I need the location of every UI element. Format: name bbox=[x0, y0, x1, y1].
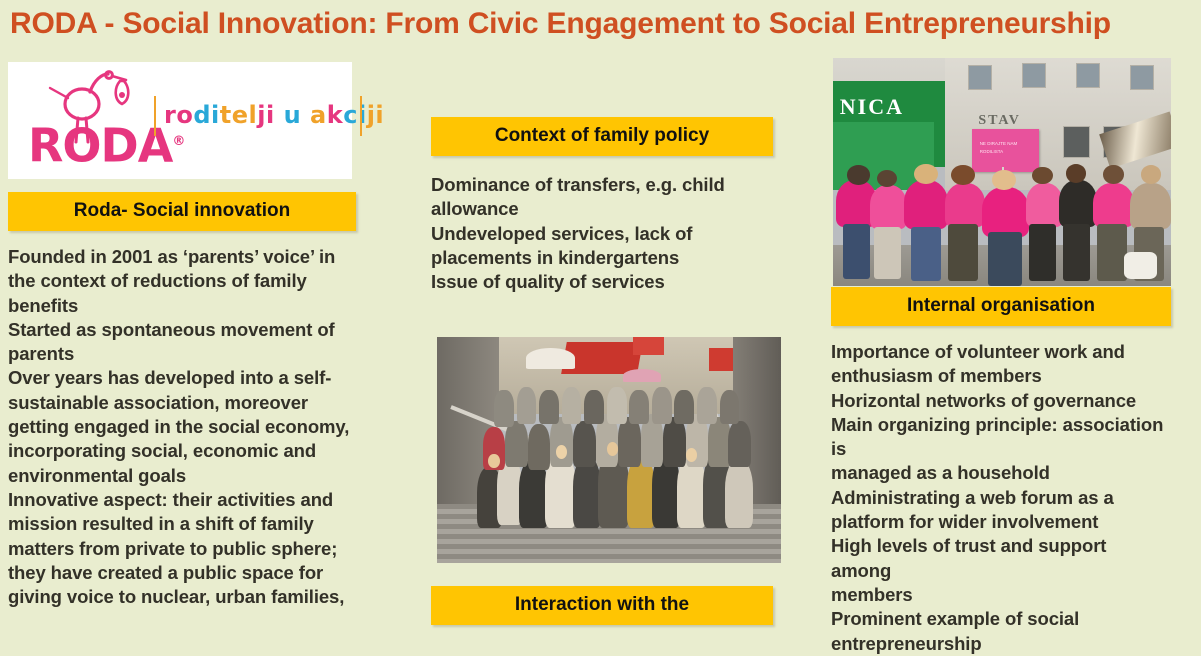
tagline-letter: a bbox=[310, 101, 327, 129]
body-line: parents bbox=[8, 342, 356, 366]
tagline-letter: i bbox=[375, 101, 384, 129]
photo-street-rally: NICA STAV NE DIRAJTE NAM RODILISTA bbox=[833, 58, 1171, 286]
column-middle: Context of family policy Dominance of tr… bbox=[431, 117, 773, 294]
body-line: giving voice to nuclear, urban families, bbox=[8, 585, 356, 609]
body-line: Importance of volunteer work and bbox=[831, 340, 1171, 364]
body-line: Founded in 2001 as ‘parents’ voice’ in bbox=[8, 245, 356, 269]
tagline-letter: d bbox=[193, 101, 211, 129]
logo-divider-right bbox=[360, 96, 362, 136]
body-line: members bbox=[831, 583, 1171, 607]
tagline-letter: u bbox=[284, 101, 302, 129]
page-title: RODA - Social Innovation: From Civic Eng… bbox=[10, 4, 1195, 44]
body-line: Dominance of transfers, e.g. child bbox=[431, 173, 773, 197]
body-line: entrepreneurship bbox=[831, 632, 1171, 656]
rally-crowd-figures bbox=[833, 163, 1171, 286]
middle-column-heading-lower: Interaction with the bbox=[431, 586, 773, 625]
body-line: allowance bbox=[431, 197, 773, 221]
right-column-heading: Internal organisation bbox=[831, 287, 1171, 326]
tagline-letter: i bbox=[266, 101, 275, 129]
body-line: mission resulted in a shift of family bbox=[8, 512, 356, 536]
right-column-body: Importance of volunteer work andenthusia… bbox=[831, 340, 1171, 656]
body-line: platform for wider involvement bbox=[831, 510, 1171, 534]
body-line: they have created a public space for bbox=[8, 561, 356, 585]
body-line: Over years has developed into a self- bbox=[8, 366, 356, 390]
body-line: Started as spontaneous movement of bbox=[8, 318, 356, 342]
roda-wordmark-text: RODA bbox=[28, 118, 172, 172]
body-line: getting engaged in the social economy, bbox=[8, 415, 356, 439]
logo-divider-left bbox=[154, 96, 156, 136]
registered-mark-icon: ® bbox=[172, 134, 184, 149]
body-line: enthusiasm of members bbox=[831, 364, 1171, 388]
storefront-sign: NICA bbox=[840, 94, 904, 120]
body-line: the context of reductions of family bbox=[8, 269, 356, 293]
roda-logo-card: RODA® roditelji u akciji bbox=[8, 62, 352, 179]
body-line: Main organizing principle: association i… bbox=[831, 413, 1171, 462]
tagline-letter: c bbox=[343, 101, 358, 129]
body-line: Undeveloped services, lack of bbox=[431, 222, 773, 246]
tagline-letter bbox=[275, 101, 284, 129]
body-line: Administrating a web forum as a bbox=[831, 486, 1171, 510]
roda-tagline: roditelji u akciji bbox=[164, 101, 384, 129]
body-line: Horizontal networks of governance bbox=[831, 389, 1171, 413]
body-line: Prominent example of social bbox=[831, 607, 1171, 631]
body-line: benefits bbox=[8, 294, 356, 318]
column-left: Roda- Social innovation Founded in 2001 … bbox=[8, 192, 356, 609]
left-column-heading: Roda- Social innovation bbox=[8, 192, 356, 231]
roda-logo: RODA® roditelji u akciji bbox=[22, 68, 352, 174]
tagline-letter: i bbox=[211, 101, 220, 129]
tagline-letter: l bbox=[249, 101, 258, 129]
left-column-body: Founded in 2001 as ‘parents’ voice’ inth… bbox=[8, 245, 356, 609]
column-middle-lower: Interaction with the bbox=[431, 586, 773, 625]
body-line: placements in kindergartens bbox=[431, 246, 773, 270]
tagline-letter: r bbox=[164, 101, 176, 129]
tagline-letter: t bbox=[220, 101, 232, 129]
tagline-letter: j bbox=[257, 101, 266, 129]
protest-placard-text: NE DIRAJTE NAM RODILISTA bbox=[980, 140, 1039, 156]
column-right: Internal organisation Importance of volu… bbox=[831, 287, 1171, 656]
tagline-letter: e bbox=[232, 101, 249, 129]
body-line: High levels of trust and support among bbox=[831, 534, 1171, 583]
crowd-figures bbox=[471, 387, 753, 541]
tagline-letter: k bbox=[327, 101, 343, 129]
roda-wordmark: RODA® bbox=[28, 119, 184, 168]
shop-sign: STAV bbox=[978, 113, 1021, 129]
body-line: Issue of quality of services bbox=[431, 270, 773, 294]
middle-column-body: Dominance of transfers, e.g. childallowa… bbox=[431, 173, 773, 294]
photo-mothers-on-steps: Large crowd of mothers with babies seate… bbox=[437, 337, 781, 563]
body-line: managed as a household bbox=[831, 461, 1171, 485]
body-line: environmental goals bbox=[8, 464, 356, 488]
body-line: incorporating social, economic and bbox=[8, 439, 356, 463]
middle-column-heading: Context of family policy bbox=[431, 117, 773, 156]
body-line: matters from private to public sphere; bbox=[8, 537, 356, 561]
body-line: Innovative aspect: their activities and bbox=[8, 488, 356, 512]
body-line: sustainable association, moreover bbox=[8, 391, 356, 415]
tagline-letter: o bbox=[176, 101, 193, 129]
tagline-letter bbox=[301, 101, 310, 129]
